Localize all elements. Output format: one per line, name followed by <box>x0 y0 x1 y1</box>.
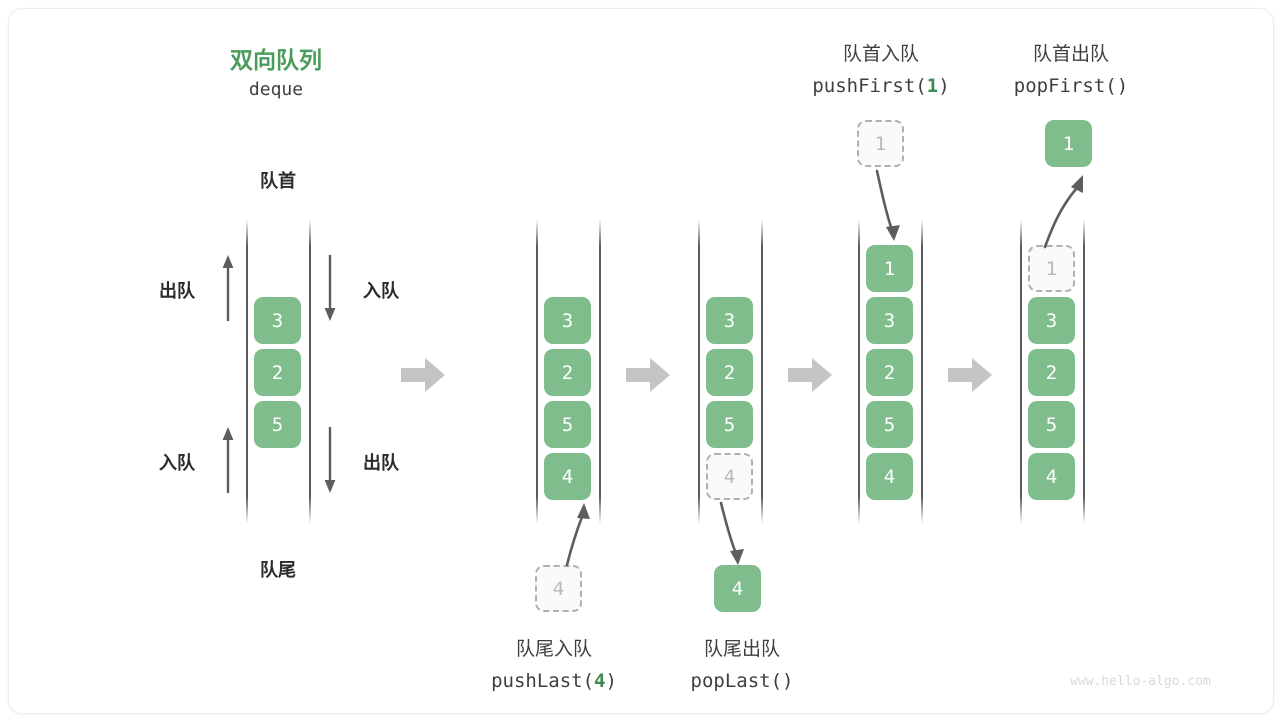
page-title: 双向队列 <box>156 41 396 75</box>
push-last-code-suffix: ) <box>605 670 616 692</box>
pop-first-code-prefix: popFirst( <box>1014 75 1117 97</box>
pop-first-ghost-box: 1 <box>1028 245 1075 292</box>
container-rail-right-5 <box>1083 219 1085 524</box>
push-first-motion-arrow-icon <box>849 169 939 247</box>
dequeue-rear-arrow-icon <box>319 425 341 495</box>
pop-first-motion-arrow-icon <box>1019 167 1109 249</box>
pop-last-label: 队尾出队 <box>622 634 862 661</box>
push-first-code-arg: 1 <box>927 75 938 97</box>
value-box: 3 <box>706 297 753 344</box>
pop-last-ghost-box: 4 <box>706 453 753 500</box>
value-box: 4 <box>544 453 591 500</box>
value-box: 4 <box>866 453 913 500</box>
pop-last-code-suffix: ) <box>782 670 793 692</box>
push-first-code-prefix: pushFirst( <box>812 75 926 97</box>
step-arrow-icon <box>626 357 670 393</box>
container-rail-left-4 <box>858 219 860 524</box>
value-box: 2 <box>1028 349 1075 396</box>
dequeue-front-arrow-icon <box>217 253 239 323</box>
push-last-motion-arrow-icon <box>529 499 619 569</box>
dequeue-front-label: 出队 <box>137 277 217 303</box>
value-box: 5 <box>254 401 301 448</box>
pop-first-label: 队首出队 <box>951 39 1191 66</box>
push-last-code-arg: 4 <box>594 670 605 692</box>
page-subtitle: deque <box>156 79 396 100</box>
value-box: 5 <box>544 401 591 448</box>
step-arrow-icon <box>401 357 445 393</box>
dequeue-rear-label: 出队 <box>341 449 421 475</box>
container-rail-left-2 <box>536 219 538 524</box>
step-arrow-icon <box>788 357 832 393</box>
value-box: 2 <box>544 349 591 396</box>
value-box: 3 <box>544 297 591 344</box>
watermark: www.hello-algo.com <box>1070 674 1211 689</box>
push-first-ghost-box: 1 <box>857 120 904 167</box>
value-box: 1 <box>866 245 913 292</box>
enqueue-front-arrow-icon <box>319 253 341 323</box>
diagram-card: 双向队列 deque 队首入队 pushFirst(1) 队首出队 popFir… <box>8 8 1274 714</box>
container-rail-right-3 <box>761 219 763 524</box>
value-box: 3 <box>254 297 301 344</box>
value-box: 3 <box>1028 297 1075 344</box>
pop-last-code-prefix: popLast( <box>691 670 783 692</box>
value-box: 5 <box>1028 401 1075 448</box>
enqueue-rear-label: 入队 <box>137 449 217 475</box>
value-box: 5 <box>866 401 913 448</box>
container-rail-right-2 <box>599 219 601 524</box>
pop-first-result-box: 1 <box>1045 120 1092 167</box>
push-last-ghost-box: 4 <box>535 565 582 612</box>
enqueue-rear-arrow-icon <box>217 425 239 495</box>
pop-first-code-suffix: ) <box>1117 75 1128 97</box>
pop-last-code: popLast() <box>622 670 862 692</box>
front-label: 队首 <box>198 167 358 193</box>
container-rail-right-4 <box>921 219 923 524</box>
push-first-code-suffix: ) <box>938 75 949 97</box>
value-box: 3 <box>866 297 913 344</box>
value-box: 2 <box>254 349 301 396</box>
container-rail-left-1 <box>246 219 248 524</box>
pop-last-result-box: 4 <box>714 565 761 612</box>
pop-last-motion-arrow-icon <box>699 501 789 571</box>
container-rail-left-3 <box>698 219 700 524</box>
step-arrow-icon <box>948 357 992 393</box>
value-box: 5 <box>706 401 753 448</box>
push-last-code-prefix: pushLast( <box>491 670 594 692</box>
pop-first-code: popFirst() <box>951 75 1191 97</box>
value-box: 4 <box>1028 453 1075 500</box>
value-box: 2 <box>866 349 913 396</box>
container-rail-left-5 <box>1020 219 1022 524</box>
value-box: 2 <box>706 349 753 396</box>
rear-label: 队尾 <box>198 556 358 582</box>
container-rail-right-1 <box>309 219 311 524</box>
enqueue-front-label: 入队 <box>341 277 421 303</box>
